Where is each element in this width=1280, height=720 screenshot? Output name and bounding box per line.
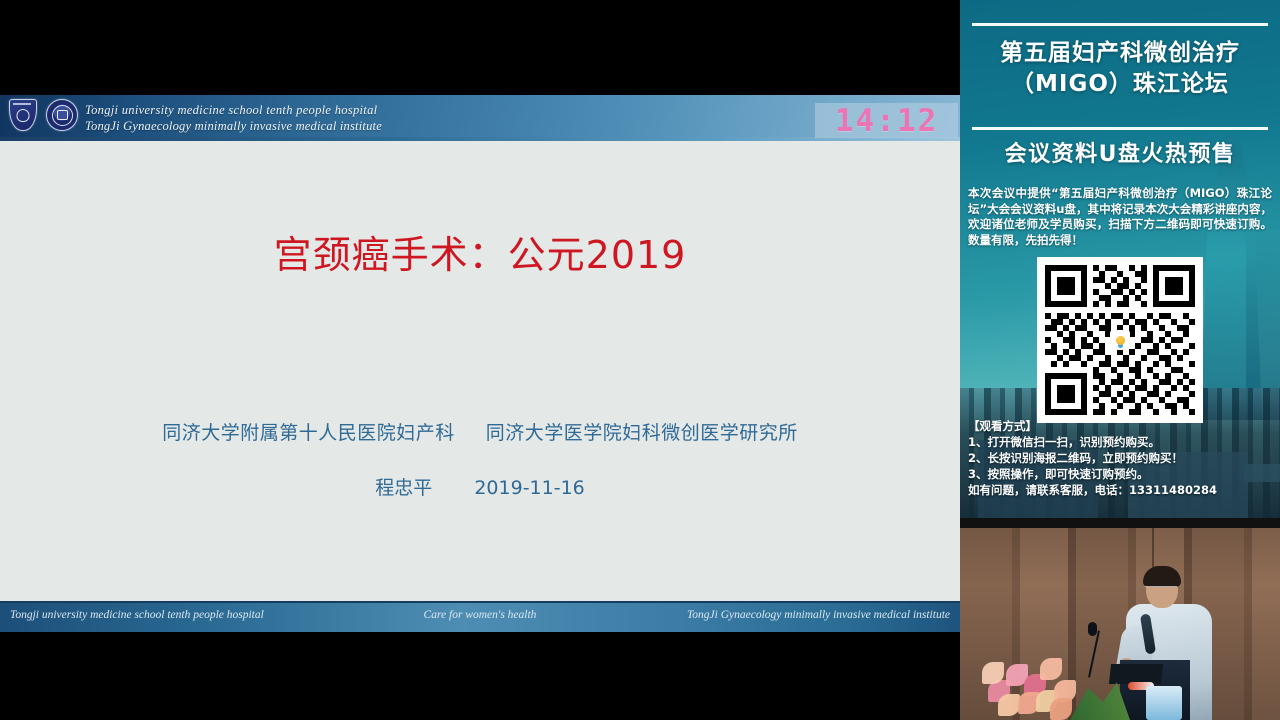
- presentation-slide: Tongji university medicine school tenth …: [0, 95, 960, 632]
- poster-subtitle: 会议资料U盘火热预售: [960, 136, 1280, 168]
- presenter-name: 程忠平: [375, 477, 432, 499]
- institution-logos: [9, 99, 78, 131]
- howto-step-1: 1、打开微信扫一扫，识别预约购买。: [968, 434, 1272, 450]
- howto-heading: 【观看方式】: [968, 418, 1272, 434]
- affiliation-left: 同济大学附属第十人民医院妇产科: [162, 422, 455, 444]
- footer-right-text: TongJi Gynaecology minimally invasive me…: [687, 609, 950, 621]
- poster-divider-middle: [972, 127, 1268, 130]
- palm-leaf: [1070, 680, 1130, 720]
- slide-main-title: 宫颈癌手术：公元2019: [0, 224, 960, 279]
- live-speaker-video[interactable]: [960, 518, 1280, 720]
- qr-code[interactable]: [1037, 257, 1203, 423]
- video-player-area[interactable]: Tongji university medicine school tenth …: [0, 0, 960, 720]
- screen: Tongji university medicine school tenth …: [0, 0, 1280, 720]
- poster-divider-top: [972, 23, 1268, 26]
- clock-time: 14:12: [835, 103, 938, 139]
- poster-title-line1: 第五届妇产科微创治疗: [960, 38, 1280, 69]
- poster-howto-block: 【观看方式】 1、打开微信扫一扫，识别预约购买。 2、长按识别海报二维码，立即预…: [968, 418, 1272, 498]
- slide-header-titles: Tongji university medicine school tenth …: [85, 102, 382, 134]
- flower-arrangement: [982, 642, 1122, 720]
- header-title-line2: TongJi Gynaecology minimally invasive me…: [85, 118, 382, 134]
- poster-title-line2: （MIGO）珠江论坛: [960, 69, 1280, 100]
- slide-footer-band: Tongji university medicine school tenth …: [0, 601, 960, 632]
- affiliation-right: 同济大学医学院妇科微创医学研究所: [486, 422, 798, 444]
- slide-affiliations: 同济大学附属第十人民医院妇产科 同济大学医学院妇科微创医学研究所: [0, 418, 960, 445]
- poster-body-text: 本次会议中提供“第五届妇产科微创治疗（MIGO）珠江论坛”大会会议资料u盘，其中…: [968, 186, 1272, 248]
- tongji-shield-crest-icon: [9, 99, 37, 131]
- slide-body: 宫颈癌手术：公元2019 同济大学附属第十人民医院妇产科 同济大学医学院妇科微创…: [0, 141, 960, 609]
- howto-step-2: 2、长按识别海报二维码，立即预约购买！: [968, 450, 1272, 466]
- slide-presenter-line: 程忠平 2019-11-16: [0, 473, 960, 500]
- customer-service-contact: 如有问题，请联系客服，电话：13311480284: [968, 482, 1272, 498]
- qr-center-logo-icon: [1110, 330, 1130, 350]
- podium-mic-head-icon: [1088, 622, 1097, 636]
- water-bottle: [1146, 686, 1182, 720]
- howto-step-3: 3、按照操作，即可快速订购预约。: [968, 466, 1272, 482]
- presentation-date: 2019-11-16: [474, 477, 584, 499]
- speaker-glasses-icon: [1145, 586, 1177, 593]
- header-title-line1: Tongji university medicine school tenth …: [85, 102, 382, 118]
- tongji-seal-crest-icon: [46, 99, 78, 131]
- clock-overlay: 14:12: [815, 103, 958, 138]
- sidebar: 第五届妇产科微创治疗 （MIGO）珠江论坛 会议资料U盘火热预售 本次会议中提供…: [960, 0, 1280, 720]
- speaker-hair: [1143, 566, 1181, 587]
- promo-poster[interactable]: 第五届妇产科微创治疗 （MIGO）珠江论坛 会议资料U盘火热预售 本次会议中提供…: [960, 0, 1280, 518]
- poster-title: 第五届妇产科微创治疗 （MIGO）珠江论坛: [960, 38, 1280, 100]
